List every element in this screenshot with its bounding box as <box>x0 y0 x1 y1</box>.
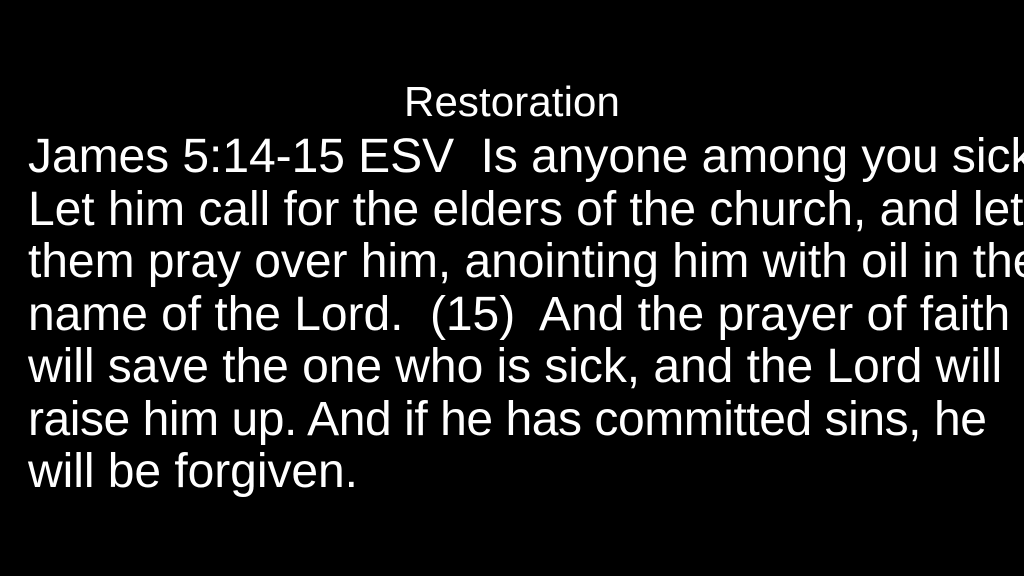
scripture-line: Let him call for the elders of the churc… <box>28 184 1008 237</box>
scripture-line: name of the Lord. (15) And the prayer of… <box>28 289 1008 342</box>
scripture-line: will save the one who is sick, and the L… <box>28 341 1008 394</box>
scripture-line: James 5:14-15 ESV Is anyone among you si… <box>28 131 1008 184</box>
slide-title: Restoration <box>0 78 1024 126</box>
scripture-body: James 5:14-15 ESV Is anyone among you si… <box>28 131 1008 499</box>
scripture-line: raise him up. And if he has committed si… <box>28 394 1008 447</box>
scripture-line: them pray over him, anointing him with o… <box>28 236 1008 289</box>
presentation-slide: Restoration James 5:14-15 ESV Is anyone … <box>0 0 1024 576</box>
scripture-line: will be forgiven. <box>28 446 1008 499</box>
